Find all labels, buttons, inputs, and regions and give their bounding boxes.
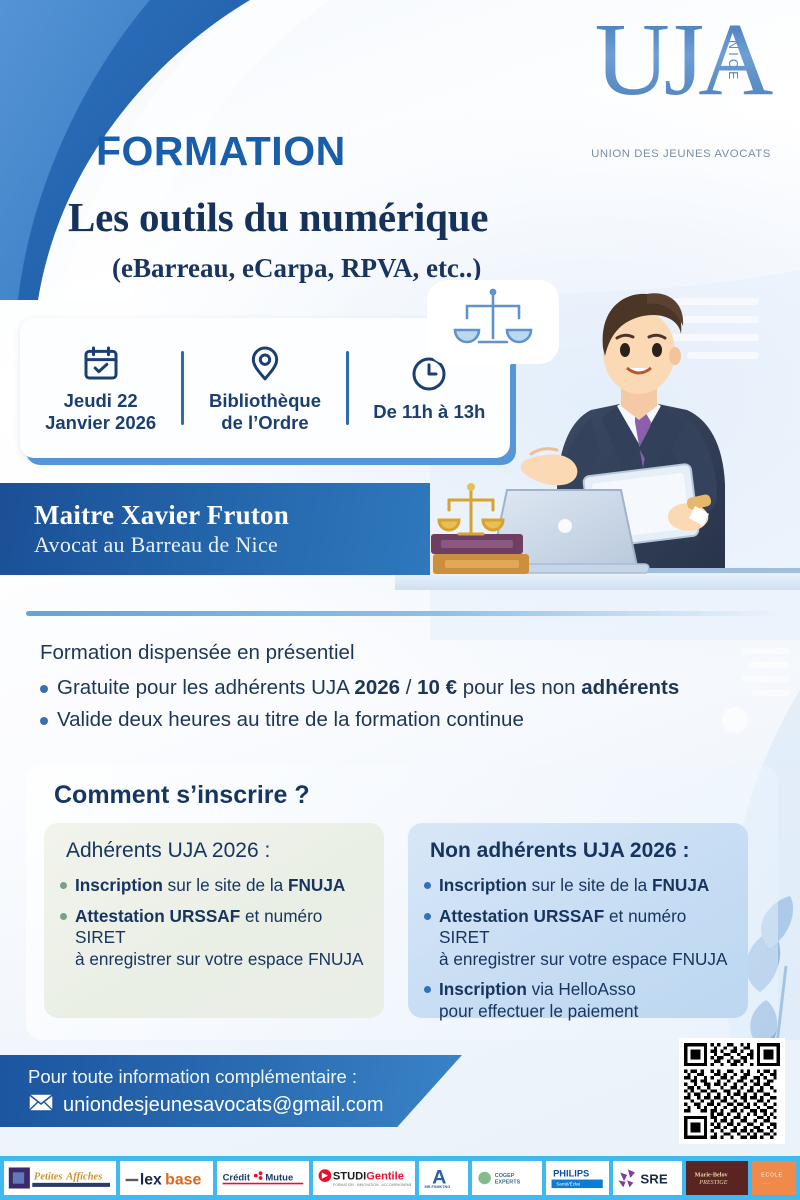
adherents-heading: Adhérents UJA 2026 : [66,839,370,863]
contact-email[interactable]: uniondesjeunesavocats@gmail.com [63,1094,383,1117]
event-date-line2: Janvier 2026 [45,412,156,434]
svg-text:base: base [165,1171,201,1188]
sponsor-bar: Petites Affiches lex base Crédit Mutue [0,1156,800,1200]
list-item: Attestation URSSAF et numéro SIRETà enre… [424,906,734,971]
scales-speech-bubble [427,280,559,380]
sponsor-logo: STUDI Gentile FORMATION . INNOVATION . A… [313,1161,415,1195]
list-item-text: Inscription via HelloAssopour effectuer … [439,979,638,1022]
bullet-dot-icon [424,913,431,920]
contact-label: Pour toute information complémentaire : [28,1066,462,1088]
svg-text:Petites: Petites [34,1172,63,1183]
svg-text:Affiches: Affiches [65,1172,102,1183]
section-divider [26,611,778,616]
bullet-dot-icon [424,986,431,993]
sponsor-logo: Crédit Mutue [217,1161,309,1195]
sponsor-logo: Marie-Belov PRESTIGE [686,1161,748,1195]
inscription-title: Comment s’inscrire ? [54,781,310,810]
bullet-text: Valide deux heures au titre de la format… [57,708,524,732]
event-date: Jeudi 22 Janvier 2026 [20,343,181,433]
svg-text:lex: lex [139,1171,161,1188]
inscription-panel: Comment s’inscrire ? Adhérents UJA 2026 … [26,765,778,1040]
list-item: Inscription sur le site de la FNUJA [60,875,370,897]
svg-text:Crédit: Crédit [223,1172,251,1183]
bullet-text: Gratuite pour les adhérents UJA 2026 / 1… [57,676,679,700]
svg-text:EXPERTS: EXPERTS [495,1179,521,1185]
svg-text:MR.FSMKTNG: MR.FSMKTNG [424,1185,450,1189]
formation-kicker: FORMATION [96,128,346,175]
svg-text:COGEP: COGEP [495,1173,515,1179]
list-item: Valide deux heures au titre de la format… [40,708,760,732]
contact-ribbon: Pour toute information complémentaire : … [0,1055,462,1127]
speaker-banner: Maitre Xavier Fruton Avocat au Barreau d… [0,483,430,575]
list-item-text: Inscription sur le site de la FNUJA [439,875,709,897]
bullet-dot-icon [40,685,48,693]
sponsor-logo: A MR.FSMKTNG [419,1161,468,1195]
event-location-line1: Bibliothèque [209,390,321,412]
bullet-dot-icon [60,882,67,889]
sponsor-logo: ECOLE ····· [752,1161,796,1195]
event-location-line2: de l’Ordre [209,412,321,434]
event-location: Bibliothèque de l’Ordre [184,343,345,433]
qr-code-icon[interactable] [679,1038,785,1144]
format-intro-text: Formation dispensée en présentiel [40,641,355,665]
list-item: Inscription sur le site de la FNUJA [424,875,734,897]
list-item: Attestation URSSAF et numéro SIRETà enre… [60,906,370,971]
speaker-name: Maitre Xavier Fruton [34,500,430,531]
logo-letters: UJA [576,8,786,112]
svg-text:FORMATION . INNOVATION . ACCOM: FORMATION . INNOVATION . ACCOMPAGNEMENT [333,1183,411,1187]
svg-text:Mutue: Mutue [265,1172,293,1183]
logo-mark: UJA NICE [576,14,786,132]
sponsor-logo: PHILIPS Santé/Éclat [546,1161,608,1195]
contact-email-row[interactable]: uniondesjeunesavocats@gmail.com [28,1093,462,1118]
bullet-dot-icon [424,882,431,889]
uja-logo: UJA NICE UNION DES JEUNES AVOCATS [576,14,786,166]
logo-tagline: UNION DES JEUNES AVOCATS [576,148,786,160]
svg-text:Santé/Éclat: Santé/Éclat [557,1181,581,1187]
page-title: Les outils du numérique [68,193,488,241]
bullet-dot-icon [60,913,67,920]
sponsor-logo: Petites Affiches [4,1161,116,1195]
calendar-check-icon [81,343,121,383]
sponsor-logo: lex base [120,1161,214,1195]
svg-text:PRESTIGE: PRESTIGE [698,1179,727,1186]
body-bullet-list: Gratuite pour les adhérents UJA 2026 / 1… [40,676,760,740]
list-item: Inscription via HelloAssopour effectuer … [424,979,734,1022]
list-item-text: Attestation URSSAF et numéro SIRETà enre… [439,906,734,971]
svg-text:Marie-Belov: Marie-Belov [694,1171,728,1178]
envelope-icon [28,1093,54,1118]
list-item-text: Inscription sur le site de la FNUJA [75,875,345,897]
svg-text:Gentile: Gentile [366,1171,404,1183]
sponsor-logo: COGEP EXPERTS [472,1161,543,1195]
svg-text:ECOLE: ECOLE [761,1172,783,1178]
list-item: Gratuite pour les adhérents UJA 2026 / 1… [40,676,760,700]
adherents-card: Adhérents UJA 2026 : Inscription sur le … [44,823,384,1018]
speaker-role: Avocat au Barreau de Nice [34,531,430,559]
event-date-line1: Jeudi 22 [45,390,156,412]
svg-text:SRE: SRE [640,1171,667,1186]
non-adherents-heading: Non adhérents UJA 2026 : [430,839,734,863]
svg-text:·····: ····· [763,1181,771,1186]
logo-city-label: NICE [726,40,740,83]
non-adherents-card: Non adhérents UJA 2026 : Inscription sur… [408,823,748,1018]
event-date-text: Jeudi 22 Janvier 2026 [45,390,156,433]
svg-text:STUDI: STUDI [333,1171,366,1183]
poster-root: UJA NICE UNION DES JEUNES AVOCATS FORMAT… [0,0,800,1200]
svg-text:PHILIPS: PHILIPS [554,1168,590,1178]
map-pin-icon [245,343,285,383]
sponsor-logo: SRE [613,1161,682,1195]
desk-props [395,483,800,590]
event-location-text: Bibliothèque de l’Ordre [209,390,321,433]
lawyer-illustration [395,268,800,623]
bullet-dot-icon [40,717,48,725]
list-item-text: Attestation URSSAF et numéro SIRETà enre… [75,906,370,971]
